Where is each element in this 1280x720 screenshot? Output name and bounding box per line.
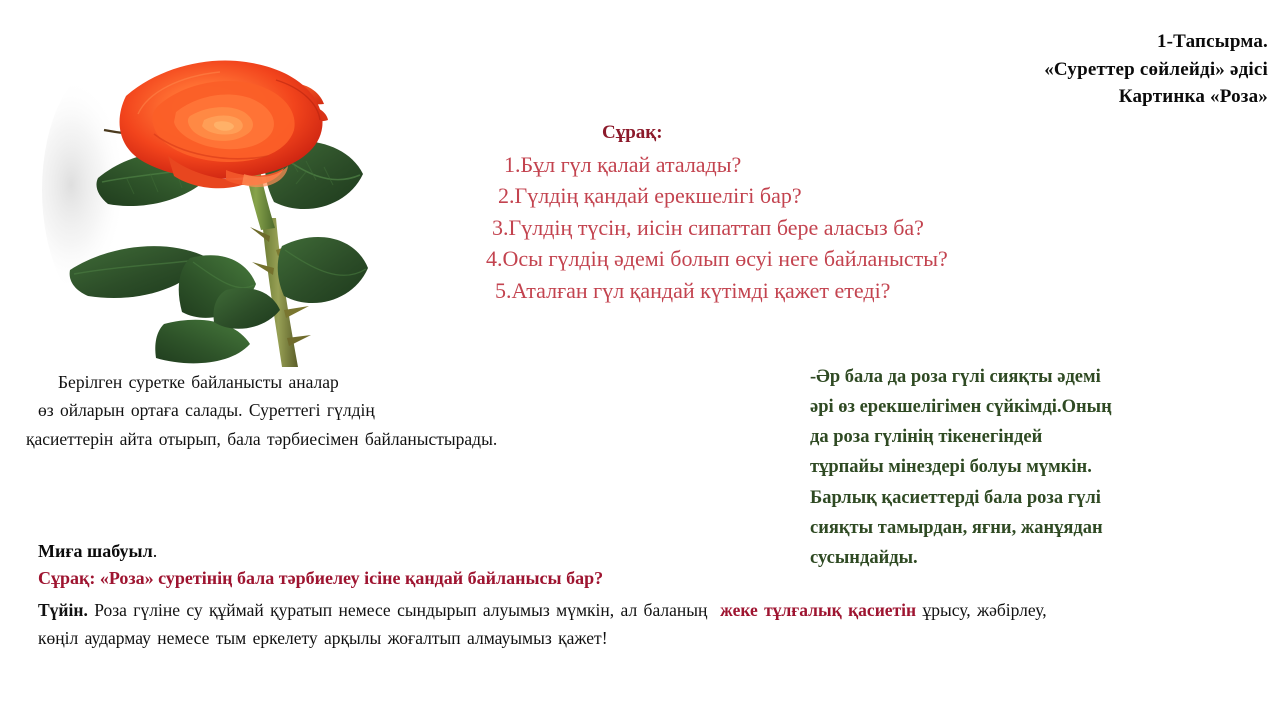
green-line-3: да роза гүлінің тікенегіндей	[810, 422, 1280, 452]
photo-caption: Берілген суретке байланысты аналар өз ой…	[26, 368, 646, 453]
title-line-3: Картинка «Роза»	[838, 83, 1268, 111]
summary-part-1: Роза гүліне су құймай қуратып немесе сын…	[88, 600, 708, 620]
questions-list: 1.Бұл гүл қалай аталады? 2.Гүлдің қандай…	[470, 149, 1120, 306]
question-item-1: 1.Бұл гүл қалай аталады?	[470, 149, 1120, 180]
brainstorm-title-punct: .	[153, 541, 158, 561]
green-line-5: Барлық қасиеттерді бала роза гүлі	[810, 483, 1280, 513]
brainstorm-section: Миға шабуыл. Сұрақ: «Роза» суретінің бал…	[38, 540, 1253, 652]
slide-title: 1-Тапсырма. «Суреттер сөйлейді» әдісі Ка…	[838, 28, 1268, 111]
summary-line-2: көңіл аудармау немесе тым еркелету арқыл…	[38, 624, 1253, 652]
brainstorm-title-text: Миға шабуыл	[38, 541, 153, 561]
green-line-6: сияқты тамырдан, яғни, жанұядан	[810, 513, 1280, 543]
green-line-4: тұрпайы мінездері болуы мүмкін.	[810, 452, 1280, 482]
questions-section: Сұрақ: 1.Бұл гүл қалай аталады? 2.Гүлдің…	[470, 122, 1120, 306]
question-item-2: 2.Гүлдің қандай ерекшелігі бар?	[470, 180, 1120, 211]
questions-heading: Сұрақ:	[602, 122, 1120, 145]
summary-line-1: Түйін. Роза гүліне су құймай қуратып нем…	[38, 596, 1253, 624]
rose-photo	[30, 22, 375, 367]
summary-highlight: жеке тұлғалық қасиетін	[720, 600, 916, 620]
slide-canvas: 1-Тапсырма. «Суреттер сөйлейді» әдісі Ка…	[0, 0, 1280, 720]
brainstorm-summary: Түйін. Роза гүліне су құймай қуратып нем…	[38, 596, 1253, 652]
question-item-5: 5.Аталған гүл қандай күтімді қажет етеді…	[470, 275, 1120, 306]
summary-lead: Түйін.	[38, 600, 88, 620]
title-line-2: «Суреттер сөйлейді» әдісі	[838, 56, 1268, 84]
summary-part-2: ұрысу, жәбірлеу,	[922, 600, 1046, 620]
title-line-1: 1-Тапсырма.	[838, 28, 1268, 56]
question-item-3: 3.Гүлдің түсін, иісін сипаттап бере алас…	[470, 212, 1120, 243]
green-line-2: әрі өз ерекшелігімен сүйкімді.Оның	[810, 392, 1280, 422]
brainstorm-question: Сұрақ: «Роза» суретінің бала тәрбиелеу і…	[38, 566, 1253, 590]
photo-caption-line-2: өз ойларын ортаға салады. Суреттегі гүлд…	[26, 396, 646, 424]
photo-caption-line-3: қасиеттерін айта отырып, бала тәрбиесіме…	[26, 425, 646, 453]
question-item-4: 4.Осы гүлдің әдемі болып өсуі неге байла…	[470, 243, 1120, 274]
photo-caption-line-1: Берілген суретке байланысты аналар	[26, 368, 646, 396]
green-line-1: -Әр бала да роза гүлі сияқты әдемі	[810, 362, 1280, 392]
brainstorm-title: Миға шабуыл.	[38, 540, 1253, 563]
